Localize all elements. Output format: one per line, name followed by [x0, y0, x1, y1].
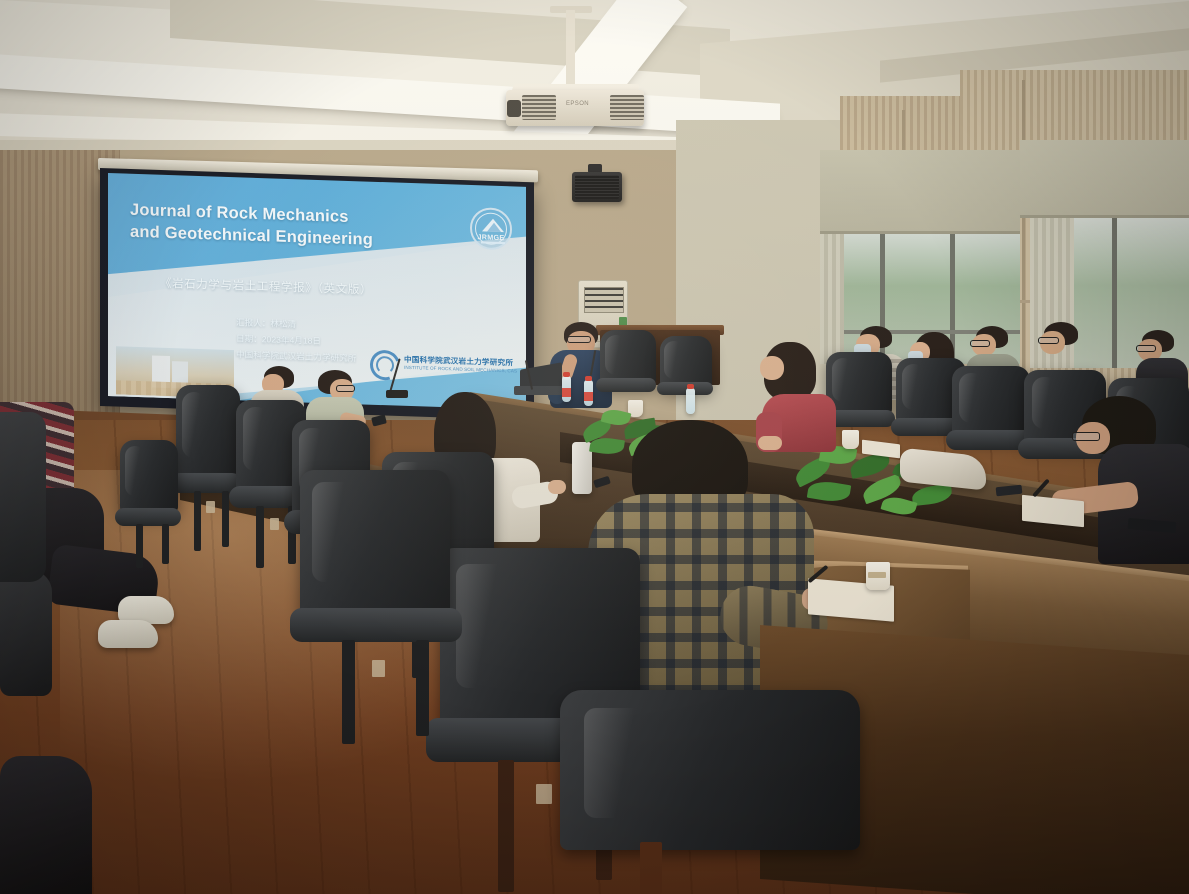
- gooseneck-microphone[interactable]: [386, 390, 408, 398]
- roller-blind-left[interactable]: [820, 150, 1020, 234]
- roller-blind-right[interactable]: [1020, 140, 1189, 218]
- jrmge-journal-logo: JRMGE: [470, 207, 512, 250]
- ceiling-projector: EPSON: [506, 82, 644, 130]
- projector-brand-label: EPSON: [566, 101, 589, 107]
- attendee-black-shirt-writing: [1060, 396, 1189, 576]
- paper-cup[interactable]: [842, 430, 859, 449]
- cup-print: [868, 572, 886, 578]
- executive-chair[interactable]: [560, 690, 860, 894]
- swirl-inner-icon: [376, 356, 394, 375]
- ac-louver: [584, 287, 624, 313]
- bottle-cap: [563, 372, 570, 377]
- slide-title-english: Journal of Rock Mechanics and Geotechnic…: [130, 200, 440, 254]
- bottle-label: [562, 388, 571, 397]
- mountain-inner-icon: [487, 223, 501, 232]
- attendee-lap-foreground: [0, 756, 92, 894]
- executive-chair[interactable]: [176, 385, 240, 561]
- executive-chair[interactable]: [120, 440, 178, 570]
- bottle-cap: [585, 376, 592, 381]
- wall-speaker: [572, 172, 622, 202]
- bottle-cap: [687, 384, 694, 389]
- white-sneaker: [98, 620, 158, 648]
- executive-chair[interactable]: [300, 470, 450, 750]
- projector-lens: [507, 100, 521, 117]
- water-bottle[interactable]: [686, 388, 695, 414]
- window-mullion: [1112, 218, 1117, 368]
- chair-back-left[interactable]: [0, 412, 46, 582]
- bottle-label: [584, 392, 593, 401]
- chair-armrest-left[interactable]: [0, 570, 52, 696]
- slide-meta-block: 汇报人：林松清 日期：2023年4月18日 中国科学院武汉岩土力学研究所: [236, 315, 356, 367]
- executive-chair[interactable]: [600, 330, 656, 406]
- conference-room-photo: EPSON Journal of Rock Mechanics and Geot…: [0, 0, 1189, 894]
